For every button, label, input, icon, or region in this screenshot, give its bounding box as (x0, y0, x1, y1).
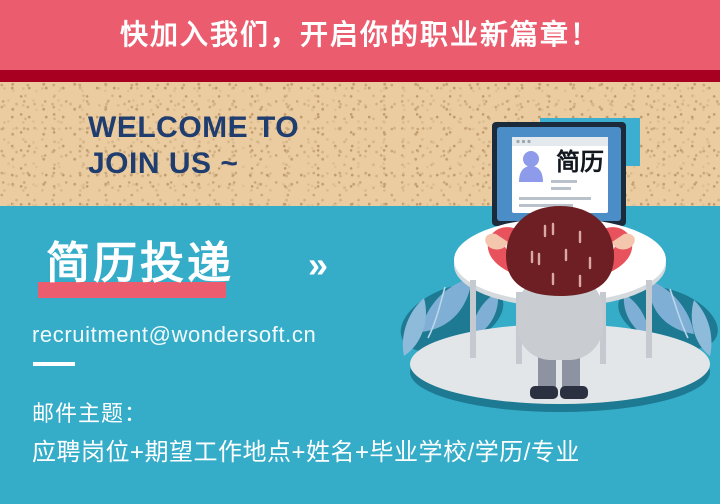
welcome-heading: WELCOME TO JOIN US ~ (88, 110, 299, 182)
recruitment-poster: 简历 (0, 0, 720, 504)
cta-title: 简历投递 (46, 236, 234, 292)
recruitment-email[interactable]: recruitment@wondersoft.cn (32, 322, 316, 348)
cta-block: 简历投递 » (38, 236, 368, 298)
divider-dash (33, 362, 75, 366)
subject-format: 应聘岗位+期望工作地点+姓名+毕业学校/学历/专业 (32, 432, 580, 467)
screen-title-text: 简历 (556, 148, 604, 176)
page-headline: 快加入我们，开启你的职业新篇章！ (0, 15, 720, 55)
welcome-line-2: JOIN US ~ (88, 146, 299, 182)
welcome-line-1: WELCOME TO (88, 110, 299, 146)
subject-label: 邮件主题： (32, 396, 147, 428)
double-chevron-icon: » (308, 242, 328, 288)
